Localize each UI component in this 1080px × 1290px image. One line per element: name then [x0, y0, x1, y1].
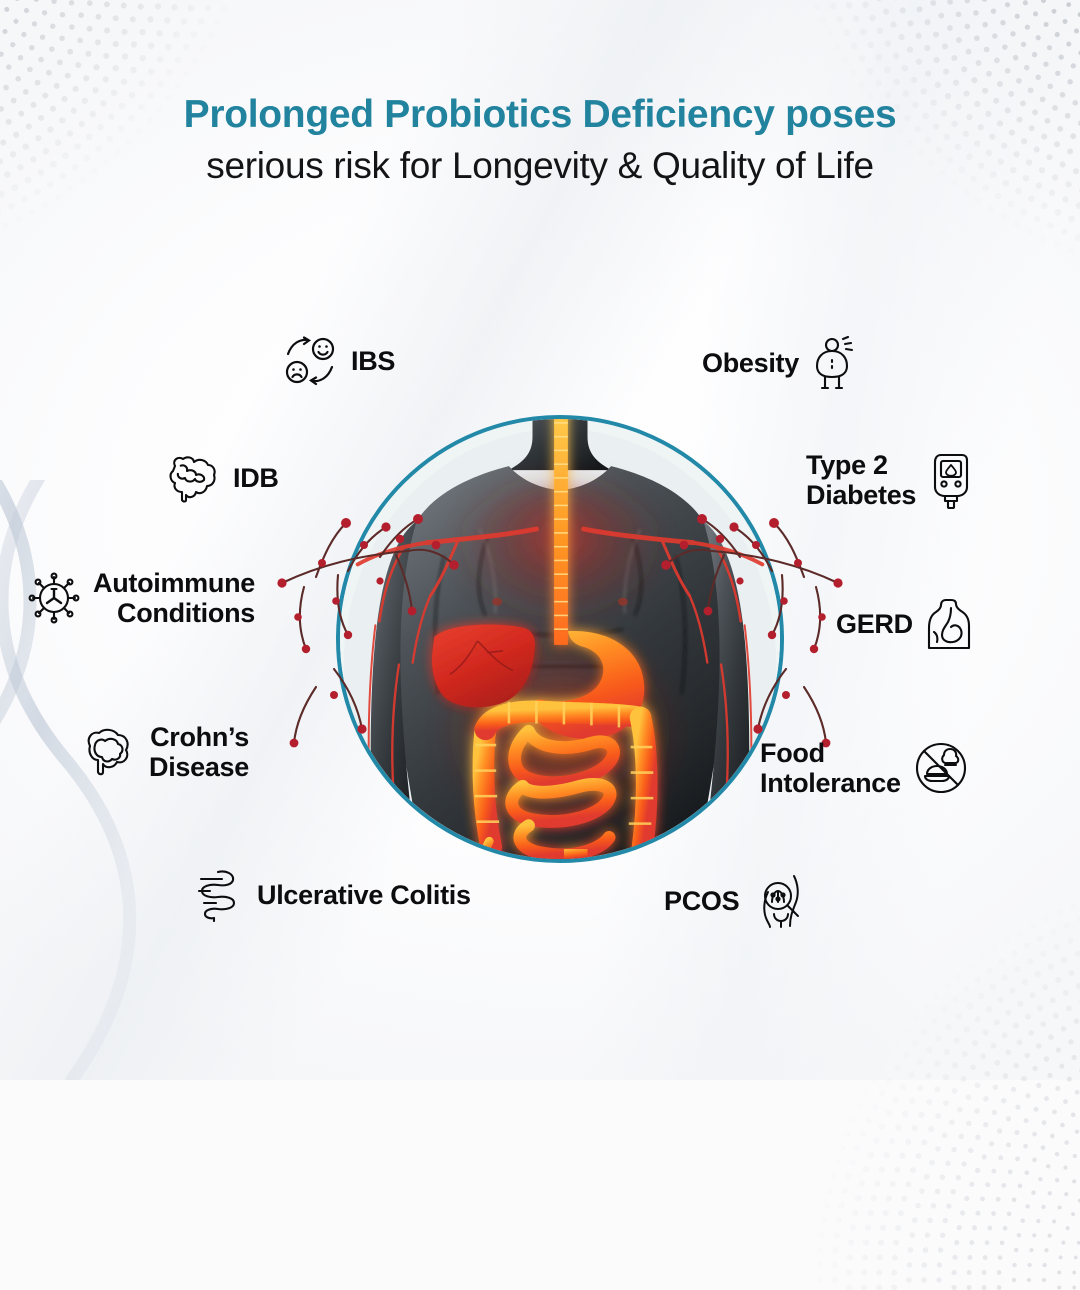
- overweight-person-icon: [812, 336, 856, 390]
- condition-item-type2-diabetes[interactable]: Type 2 Diabetes: [806, 450, 973, 510]
- condition-label-food-intolerance: Food Intolerance: [760, 738, 901, 798]
- condition-item-pcos[interactable]: PCOS: [664, 874, 804, 928]
- condition-item-food-intolerance[interactable]: Food Intolerance: [760, 738, 968, 798]
- no-food-icon: [914, 741, 968, 795]
- condition-label-obesity: Obesity: [702, 348, 799, 378]
- hero-circle-ring: [336, 415, 784, 863]
- title-line-2: serious risk for Longevity & Quality of …: [0, 143, 1080, 189]
- condition-item-ulcerative-colitis[interactable]: Ulcerative Colitis: [196, 868, 471, 922]
- condition-label-crohns: Crohn’s Disease: [149, 722, 249, 782]
- condition-label-autoimmune: Autoimmune Conditions: [93, 568, 255, 628]
- condition-label-ulcerative-colitis: Ulcerative Colitis: [257, 880, 471, 910]
- condition-item-obesity[interactable]: Obesity: [702, 336, 856, 390]
- condition-item-idb[interactable]: IDB: [166, 452, 279, 504]
- condition-item-ibs[interactable]: IBS: [282, 336, 395, 386]
- virus-cell-icon: [28, 572, 80, 624]
- condition-label-pcos: PCOS: [664, 886, 739, 916]
- ovary-magnifier-icon: [752, 874, 804, 928]
- title-block: Prolonged Probiotics Deficiency poses se…: [0, 92, 1080, 189]
- mood-swing-faces-icon: [282, 336, 338, 386]
- condition-label-ibs: IBS: [351, 346, 395, 376]
- human-body-digestive-illustration: [340, 419, 780, 859]
- condition-label-idb: IDB: [233, 463, 279, 493]
- condition-item-crohns[interactable]: Crohn’s Disease: [78, 722, 249, 782]
- stomach-reflux-torso-icon: [926, 598, 972, 650]
- condition-label-gerd: GERD: [836, 609, 913, 639]
- colon-icon: [78, 726, 136, 778]
- condition-label-type2-diabetes: Type 2 Diabetes: [806, 450, 916, 510]
- intestine-icon: [166, 452, 220, 504]
- small-intestine-icon: [196, 868, 244, 922]
- glucose-meter-icon: [929, 451, 973, 509]
- condition-item-gerd[interactable]: GERD: [836, 598, 972, 650]
- title-line-1: Prolonged Probiotics Deficiency poses: [0, 92, 1080, 138]
- condition-item-autoimmune[interactable]: Autoimmune Conditions: [28, 568, 255, 628]
- hero-figure: [336, 415, 784, 863]
